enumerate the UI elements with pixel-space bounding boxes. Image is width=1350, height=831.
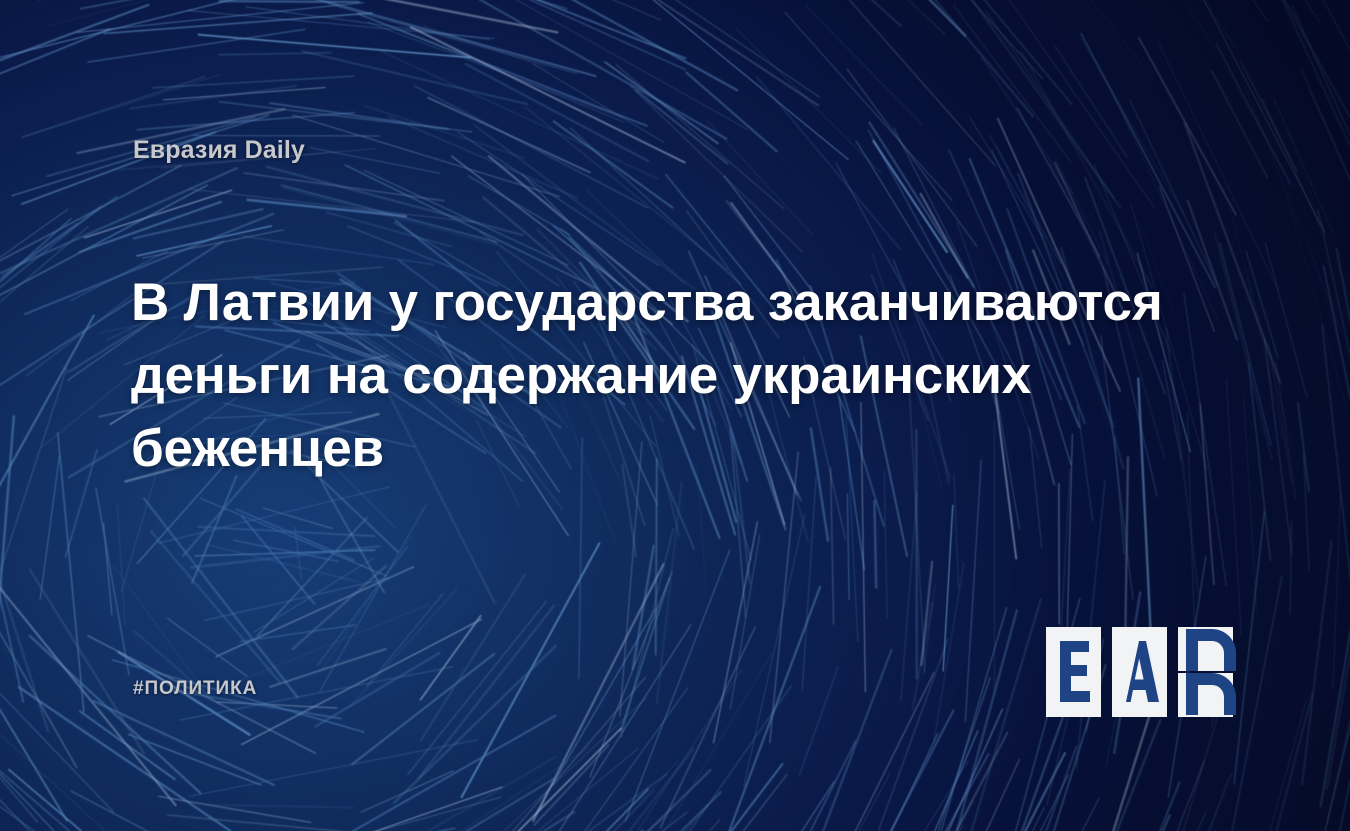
logo-tile-e bbox=[1046, 627, 1101, 717]
logo-tile-a bbox=[1112, 627, 1167, 717]
site-name: Евразия Daily bbox=[133, 136, 305, 165]
article-headline: В Латвии у государства заканчиваются ден… bbox=[131, 266, 1221, 485]
category-tag: #ПОЛИТИКА bbox=[133, 678, 257, 700]
eadaily-logo bbox=[1046, 625, 1236, 719]
social-share-card: Евразия Daily В Латвии у государства зак… bbox=[0, 0, 1350, 831]
card-content: Евразия Daily В Латвии у государства зак… bbox=[0, 0, 1350, 831]
logo-tile-d bbox=[1178, 627, 1236, 717]
